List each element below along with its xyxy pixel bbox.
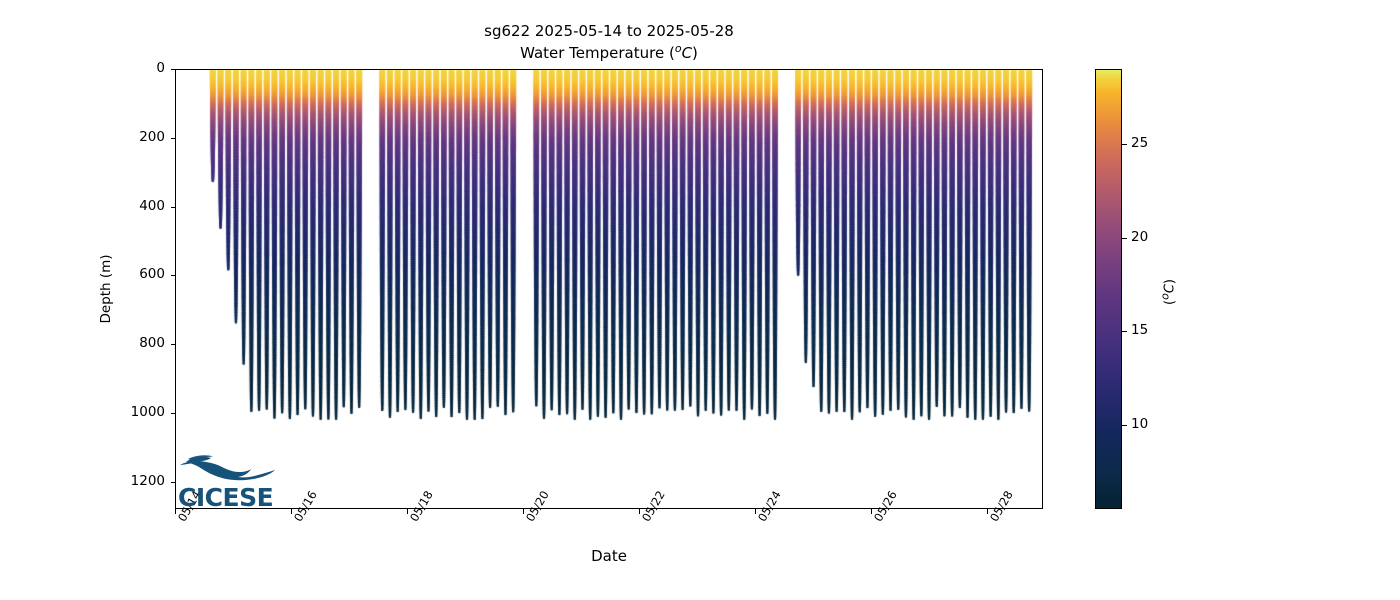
y-axis-tick-mark — [171, 69, 176, 70]
chart-title-line-2: Water Temperature (oC) — [175, 42, 1043, 64]
colorbar-tick-label: 20 — [1131, 229, 1148, 245]
colorbar-gradient — [1096, 70, 1121, 508]
colorbar-tick-label: 25 — [1131, 135, 1148, 151]
colorbar-tick-mark — [1122, 238, 1127, 239]
x-axis-label: Date — [591, 547, 627, 565]
colorbar-tick-mark — [1122, 425, 1127, 426]
y-axis-tick-mark — [171, 207, 176, 208]
chart-title-block: sg622 2025-05-14 to 2025-05-28 Water Tem… — [175, 22, 1043, 63]
degree-symbol: o — [675, 42, 682, 55]
colorbar-tick-label: 15 — [1131, 322, 1148, 338]
colorbar-tick-mark — [1122, 144, 1127, 145]
y-axis-tick-label: 600 — [139, 266, 165, 282]
plot-axes[interactable] — [175, 69, 1043, 509]
y-axis-tick-mark — [171, 482, 176, 483]
colorbar-tick-label: 10 — [1131, 416, 1148, 432]
y-axis-tick-label: 800 — [139, 335, 165, 351]
colorbar-label: (oC) — [1158, 279, 1177, 305]
y-axis-tick-label: 1200 — [131, 473, 165, 489]
cicese-logo: CICESE — [178, 452, 278, 510]
celsius-symbol: C — [682, 44, 692, 62]
colorbar-tick-mark — [1122, 331, 1127, 332]
temperature-depth-profile-plot — [176, 70, 1043, 509]
y-axis-tick-mark — [171, 344, 176, 345]
colorbar-label-close: ) — [1163, 279, 1178, 284]
colorbar-celsius-symbol: C — [1163, 284, 1178, 293]
chart-title-unit-suffix: ) — [692, 44, 698, 62]
y-axis-tick-label: 400 — [139, 198, 165, 214]
colorbar[interactable] — [1095, 69, 1122, 509]
colorbar-label-open: ( — [1163, 300, 1178, 305]
colorbar-degree-symbol: o — [1158, 293, 1171, 300]
y-axis-tick-label: 1000 — [131, 404, 165, 420]
y-axis-tick-label: 0 — [156, 60, 165, 76]
cicese-wordmark: CICESE — [178, 485, 273, 510]
y-axis-tick-mark — [171, 413, 176, 414]
chart-title-unit-prefix: Water Temperature ( — [520, 44, 675, 62]
y-axis-label: Depth (m) — [98, 254, 114, 323]
figure-canvas: sg622 2025-05-14 to 2025-05-28 Water Tem… — [0, 0, 1400, 600]
y-axis-tick-mark — [171, 138, 176, 139]
pelican-icon — [178, 452, 278, 486]
y-axis-tick-label: 200 — [139, 129, 165, 145]
y-axis-tick-mark — [171, 275, 176, 276]
chart-title-line-1: sg622 2025-05-14 to 2025-05-28 — [175, 22, 1043, 42]
